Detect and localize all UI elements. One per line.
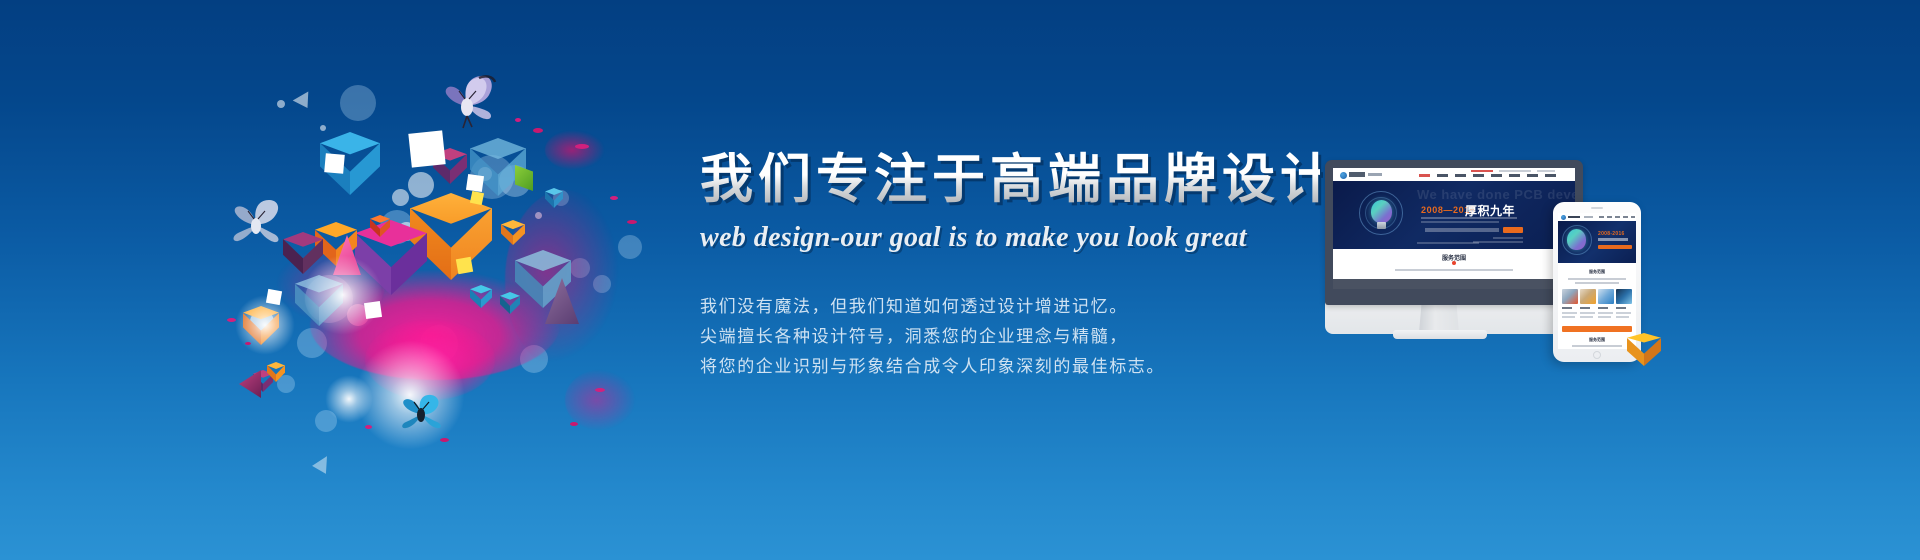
nav-item[interactable] <box>1509 174 1520 177</box>
desktop-monitor: We have done PCB development project 200… <box>1325 160 1583 305</box>
hero-text-block: 我们专注于高端品牌设计 web design-our goal is to ma… <box>700 150 1320 382</box>
speckle <box>245 342 251 345</box>
mobile-logo-text <box>1568 216 1580 218</box>
phone-speaker <box>1591 207 1603 209</box>
section-accent-dot <box>1452 261 1456 265</box>
hero-meta-line <box>1473 241 1523 243</box>
monitor-screen: We have done PCB development project 200… <box>1333 168 1575 289</box>
hero-body-copy: 我们没有魔法，但我们知道如何透过设计增进记忆。 尖端擅长各种设计符号，洞悉您的企… <box>700 292 1320 382</box>
website-logo-subtext <box>1368 173 1382 176</box>
mobile-section-desc <box>1568 278 1626 280</box>
body-line: 我们没有魔法，但我们知道如何透过设计增进记忆。 <box>700 292 1320 322</box>
mobile-hero-cta[interactable] <box>1598 245 1632 249</box>
hero-indicator-bar[interactable] <box>1417 242 1479 244</box>
website-footer <box>1333 279 1575 289</box>
mobile-thumb-text <box>1580 312 1595 314</box>
abstract-artwork <box>215 70 675 490</box>
body-line: 尖端擅长各种设计符号，洞悉您的企业理念与精髓， <box>700 322 1320 352</box>
speckle <box>627 220 637 224</box>
hero-subline <box>1421 217 1517 219</box>
website-hero: We have done PCB development project 200… <box>1333 181 1575 249</box>
page-title: 我们专注于高端品牌设计 <box>700 150 1320 209</box>
navbar-phone <box>1471 170 1493 172</box>
mobile-hero-year: 2008-2016 <box>1598 231 1625 237</box>
navbar-link <box>1499 170 1531 172</box>
nav-item[interactable] <box>1527 174 1538 177</box>
phone-screen: 2008-2016 服务范围 <box>1558 213 1636 349</box>
mobile-nav-item[interactable] <box>1599 216 1604 218</box>
monitor-stand-base <box>1393 330 1487 339</box>
speckle <box>227 318 236 322</box>
mobile-thumb-text <box>1580 316 1593 318</box>
website-navbar <box>1333 168 1575 181</box>
website-logo-icon <box>1340 172 1347 179</box>
speckle <box>533 128 543 133</box>
mobile-cta-banner[interactable] <box>1562 326 1632 332</box>
mobile-thumbnail[interactable] <box>1616 289 1632 304</box>
mobile-logo-icon <box>1561 215 1566 220</box>
mobile-thumb-text <box>1598 316 1611 318</box>
nav-item[interactable] <box>1419 174 1430 177</box>
monitor-chin <box>1333 291 1575 302</box>
website-preview: We have done PCB development project 200… <box>1333 168 1575 289</box>
mobile-lightbulb-icon <box>1567 229 1586 250</box>
accent-cube-icon <box>1627 333 1661 371</box>
hero-subline <box>1421 221 1499 223</box>
body-line: 将您的企业识别与形象结合成令人印象深刻的最佳标志。 <box>700 352 1320 382</box>
hero-cta-badge[interactable] <box>1503 227 1523 233</box>
mobile-thumb-caption <box>1598 307 1608 309</box>
navbar-link <box>1537 170 1555 172</box>
speckle <box>440 438 449 442</box>
mobile-thumb-text <box>1616 316 1629 318</box>
mobile-thumb-caption <box>1580 307 1590 309</box>
mobile-section-desc <box>1572 345 1622 347</box>
cube-left-face <box>1627 338 1644 366</box>
mobile-hero: 2008-2016 <box>1558 221 1636 263</box>
nav-item[interactable] <box>1455 174 1466 177</box>
mobile-section-title: 服务范围 <box>1589 269 1605 275</box>
mobile-nav-item[interactable] <box>1631 216 1635 218</box>
speckle <box>595 388 605 392</box>
cube-right-face <box>1644 338 1661 366</box>
website-logo-text <box>1349 172 1365 177</box>
page-subtitle: web design-our goal is to make you look … <box>700 222 1320 254</box>
phone-home-button[interactable] <box>1593 351 1601 359</box>
device-mockups: We have done PCB development project 200… <box>1325 160 1655 375</box>
monitor-stand-neck <box>1419 305 1459 333</box>
mobile-thumb-text <box>1616 312 1631 314</box>
hero-ghost-text: We have done PCB development project <box>1417 187 1575 202</box>
speckle <box>575 144 589 149</box>
speckle <box>570 422 578 426</box>
mobile-thumb-text <box>1598 312 1613 314</box>
speckle-layer <box>215 70 675 490</box>
hero-caption-bar <box>1425 228 1499 232</box>
speckle <box>515 118 521 122</box>
mobile-hero-subline <box>1598 238 1628 241</box>
mobile-nav-item[interactable] <box>1607 216 1612 218</box>
mobile-thumbnail[interactable] <box>1580 289 1596 304</box>
speckle <box>365 425 372 429</box>
mobile-thumb-caption <box>1616 307 1626 309</box>
mobile-section-title-2: 服务范围 <box>1589 337 1605 343</box>
mobile-thumb-text <box>1562 312 1577 314</box>
mobile-nav-item[interactable] <box>1623 216 1628 218</box>
nav-item[interactable] <box>1473 174 1484 177</box>
hero-meta-line <box>1493 237 1523 239</box>
nav-item[interactable] <box>1437 174 1448 177</box>
lightbulb-base <box>1377 222 1386 229</box>
mobile-thumbnail[interactable] <box>1562 289 1578 304</box>
nav-item[interactable] <box>1491 174 1502 177</box>
mobile-section-desc <box>1575 282 1619 284</box>
mobile-thumb-caption <box>1562 307 1572 309</box>
speckle <box>610 196 618 200</box>
section-description <box>1395 269 1513 271</box>
mobile-thumb-text <box>1562 316 1575 318</box>
mobile-navbar <box>1558 213 1636 221</box>
lightbulb-icon <box>1371 200 1392 223</box>
mobile-thumbnail[interactable] <box>1598 289 1614 304</box>
mobile-logo-sub <box>1584 216 1593 218</box>
nav-item[interactable] <box>1545 174 1556 177</box>
mobile-nav-item[interactable] <box>1615 216 1620 218</box>
hero-banner: 我们专注于高端品牌设计 web design-our goal is to ma… <box>0 0 1920 560</box>
